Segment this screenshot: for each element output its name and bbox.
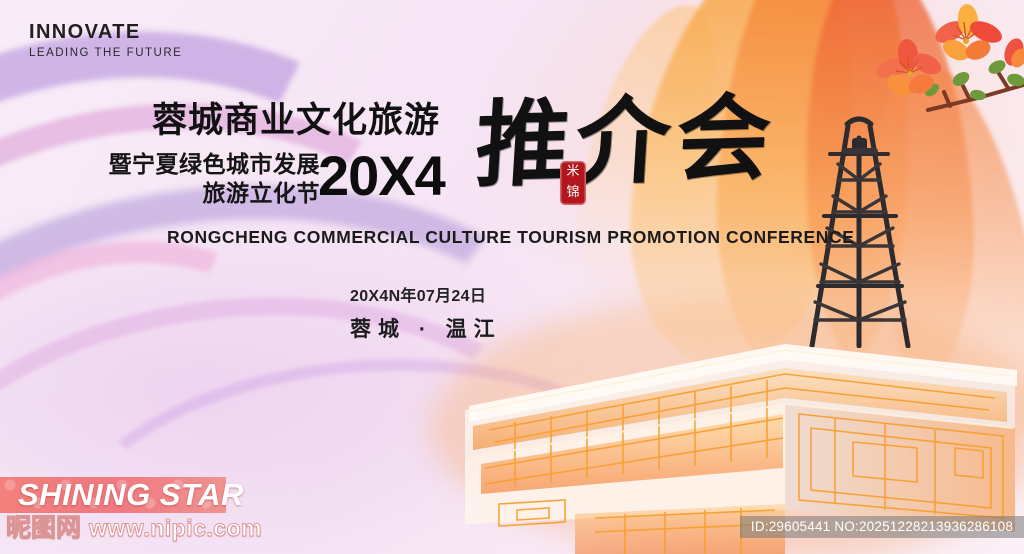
nipic-watermark-url: www.nipic.com (89, 517, 262, 540)
red-seal-stamp: 米 锦 (560, 161, 586, 205)
seal-char-top: 米 (560, 161, 586, 182)
logo-main-text: INNOVATE (29, 22, 182, 42)
headline-primary: 蓉城商业文化旅游 (152, 103, 440, 138)
calligraphy-title: 推介会 (473, 92, 779, 194)
shining-star-watermark-text: SHINING STAR (18, 478, 244, 512)
logo-tagline: LEADING THE FUTURE (29, 48, 182, 60)
headline-subtitle-group: 暨宁夏绿色城市发展 旅游立化节 (62, 150, 320, 209)
nipic-watermark: 昵图网 www.nipic.com (6, 516, 262, 541)
headline-subtitle-line2: 旅游立化节 (62, 179, 320, 208)
headline-english: RONGCHENG COMMERCIAL CULTURE TOURISM PRO… (167, 229, 855, 247)
event-meta: 20X4N年07月24日 蓉城 · 温江 (350, 289, 502, 340)
nipic-watermark-cn: 昵图网 (6, 516, 81, 541)
kapok-flower-branch-icon (858, 0, 1024, 114)
seal-char-bottom: 锦 (560, 182, 586, 203)
brand-logo: INNOVATE LEADING THE FUTURE (29, 22, 182, 60)
event-year: 20X4 (318, 148, 445, 204)
headline-subtitle-line1: 暨宁夏绿色城市发展 (62, 150, 320, 179)
image-id-watermark: ID:29605441 NO:20251228213936286108 (740, 516, 1024, 538)
event-venue: 蓉城 · 温江 (350, 319, 502, 340)
event-date: 20X4N年07月24日 (350, 289, 502, 305)
promotional-banner: INNOVATE LEADING THE FUTURE 蓉城商业文化旅游 暨宁夏… (0, 0, 1024, 554)
